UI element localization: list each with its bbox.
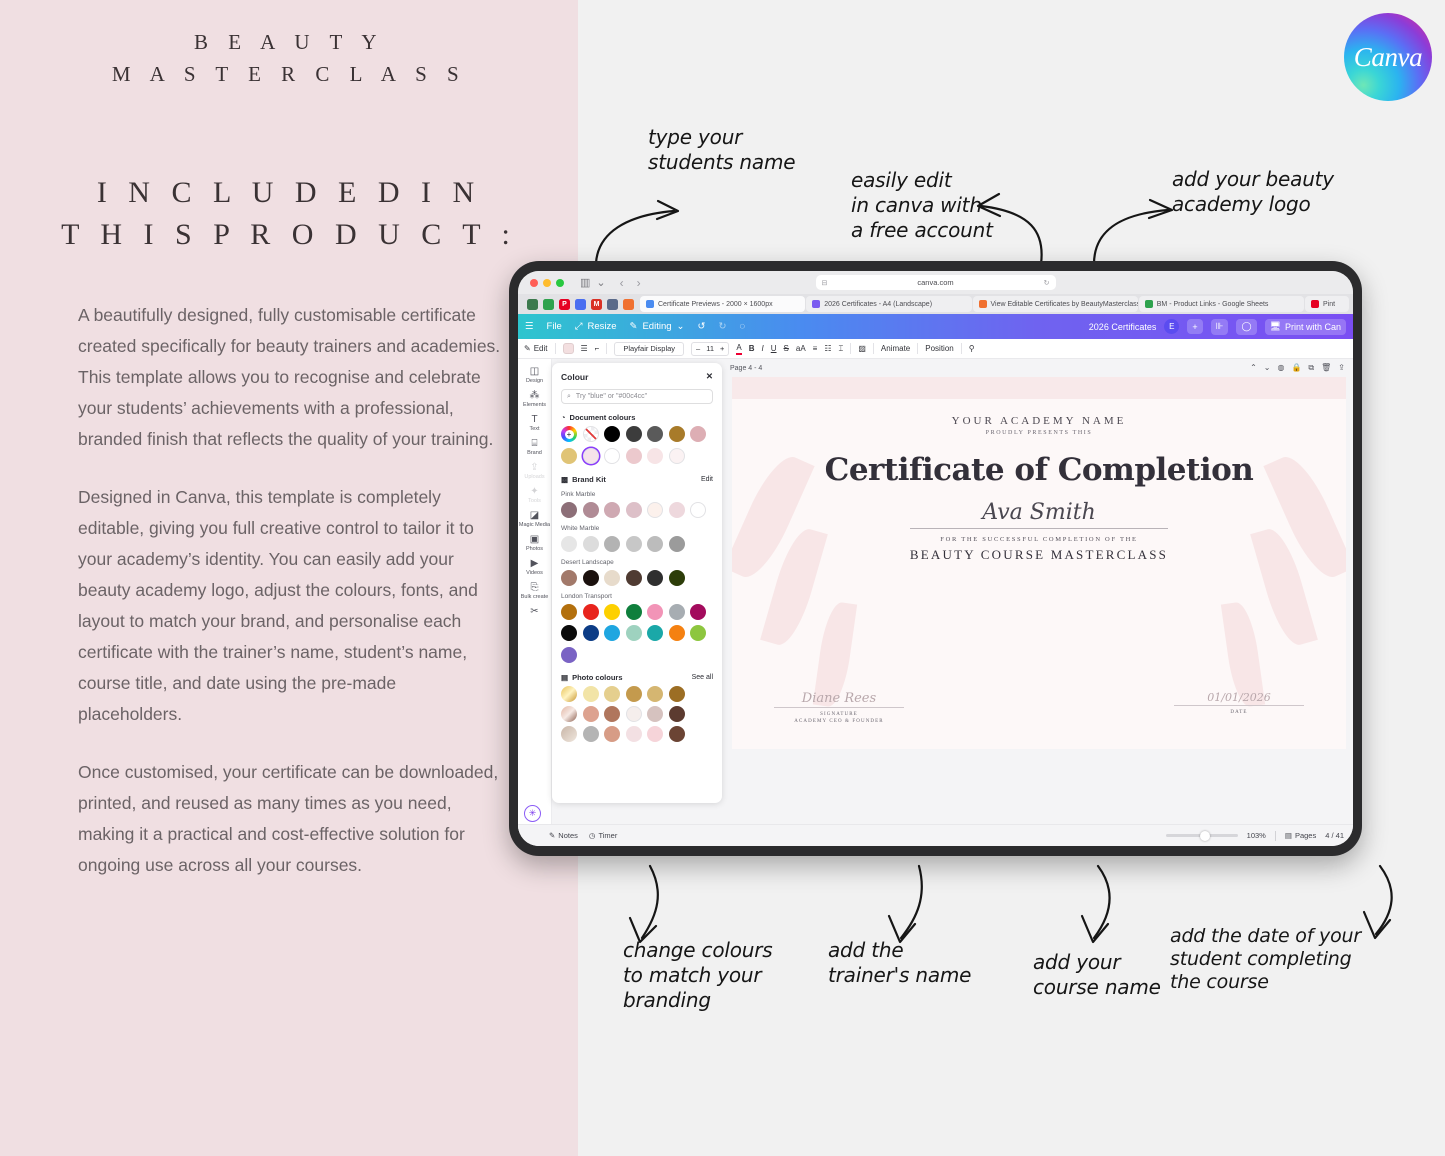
text-icon: T	[531, 415, 537, 425]
chevron-down-icon: ⌄	[677, 321, 685, 332]
resize-label: Resize	[587, 321, 616, 332]
text-align-icon[interactable]: ≡	[813, 344, 818, 353]
bottom-bar-right: 103% ▤ Pages 4 / 41	[1166, 831, 1344, 841]
text-format-toolbar: ✎ Edit ☰ ⌐ Playfair Display – 11 + A B I…	[518, 339, 1353, 359]
shield-icon: ⊟	[822, 279, 828, 287]
annotation-course-name: add your course name	[1033, 950, 1161, 1000]
lock-icon[interactable]: 🔒	[1291, 363, 1301, 373]
annotation-easily-edit: easily edit in canva with a free account	[851, 168, 993, 243]
forward-icon[interactable]: ›	[637, 276, 641, 290]
bold-button[interactable]: B	[749, 344, 755, 353]
description-copy: A beautifully designed, fully customisab…	[78, 300, 502, 881]
signature-caption-1: SIGNATURE	[774, 711, 904, 718]
transparency-icon[interactable]: ▨	[858, 344, 866, 353]
animate-button[interactable]: Animate	[881, 344, 910, 353]
canva-workspace: ◫ Design ⁂ Elements T Text ⌸ Brand	[518, 359, 1353, 846]
bookmark-icon-2[interactable]	[543, 299, 554, 310]
pages-button[interactable]: ▤ Pages	[1285, 831, 1316, 840]
curve-text-icon[interactable]: ⌐	[595, 344, 600, 353]
paragraph-3: Once customised, your certificate can be…	[78, 757, 502, 881]
notes-icon: ✎	[549, 831, 555, 840]
page-title: I N C L U D E D I N T H I S P R O D U C …	[0, 172, 578, 256]
tablet-screen: ▥ ⌄ ‹ › ⊟ canva.com ↻ P	[518, 271, 1353, 846]
edit-button[interactable]: ✎ Edit	[524, 344, 548, 353]
tablet-device-frame: ▥ ⌄ ‹ › ⊟ canva.com ↻ P	[509, 261, 1362, 856]
sidebar-item-videos[interactable]: ▶ Videos	[518, 556, 551, 579]
signature-caption-2: ACADEMY CEO & FOUNDER	[774, 718, 904, 725]
paragraph-2: Designed in Canva, this template is comp…	[78, 482, 502, 730]
sidebar-item-bulk-create[interactable]: ⎘ Bulk create	[518, 580, 551, 603]
print-label: Print with Can	[1285, 322, 1341, 332]
zoom-slider-handle[interactable]	[1200, 831, 1210, 841]
avatar[interactable]: E	[1164, 319, 1179, 334]
move-up-icon[interactable]: ⌃	[1250, 363, 1257, 373]
sidebar-item-text[interactable]: T Text	[518, 412, 551, 435]
canvas-area: Page 4 - 4 ⌃ ⌄ ◍ 🔒 ⧉ 🗑 ⇪	[552, 359, 1353, 846]
pencil-icon: ✎	[630, 321, 638, 332]
right-showcase-panel: Canva type your students name easily edi…	[578, 0, 1445, 1156]
browser-tab[interactable]: BM - Product Links - Google Sheets	[1139, 296, 1304, 312]
print-with-canva-button[interactable]: 🖥 Print with Can	[1265, 319, 1346, 335]
tools-icon: ✦	[530, 487, 538, 497]
move-down-icon[interactable]: ⌄	[1264, 363, 1271, 373]
videos-icon: ▶	[531, 559, 539, 569]
edit-label: Edit	[534, 344, 548, 353]
canva-top-bar: ☰ File ⤢ Resize ✎ Editing ⌄ ↺ ↻ ◌ 2026 C…	[518, 314, 1353, 339]
document-title[interactable]: 2026 Certificates	[1089, 322, 1157, 332]
sidebar-item-label: Bulk create	[521, 594, 549, 600]
sidebar-item-label: Tools	[528, 498, 541, 504]
paragraph-1: A beautifully designed, fully customisab…	[78, 300, 502, 455]
sidebar-toggle[interactable]: ▥ ⌄	[580, 276, 606, 289]
cloud-save-icon[interactable]: ◌	[739, 321, 745, 332]
annotation-trainers-name: add the trainer's name	[828, 938, 971, 988]
position-button[interactable]: Position	[925, 344, 953, 353]
resize-button[interactable]: ⤢ Resize	[575, 321, 617, 332]
sidebar-item-label: Uploads	[524, 474, 544, 480]
font-colour-icon[interactable]: A	[736, 343, 741, 355]
back-icon[interactable]: ‹	[620, 276, 624, 290]
font-size-value: 11	[706, 344, 714, 353]
left-info-panel: B E A U T Y M A S T E R C L A S S I N C …	[0, 0, 578, 1156]
print-icon: 🖥	[1270, 321, 1281, 332]
notes-button[interactable]: ✎ Notes	[549, 831, 578, 840]
address-bar[interactable]: ⊟ canva.com ↻	[816, 275, 1056, 290]
page-title-line2: T H I S P R O D U C T :	[0, 214, 578, 256]
sidebar-item-label: Design	[526, 378, 543, 384]
file-menu-button[interactable]: File	[547, 321, 562, 332]
resize-icon: ⤢	[575, 321, 583, 332]
minimize-window-button[interactable]	[543, 279, 551, 287]
canva-top-bar-right: 2026 Certificates E + ⊪ ◯ 🖥 Print with C…	[1089, 319, 1346, 335]
add-collaborator-button[interactable]: +	[1187, 319, 1202, 334]
browser-tab[interactable]: Certificate Previews - 2000 × 1600px	[640, 296, 805, 312]
certificate-content: YOUR ACADEMY NAME PROUDLY PRESENTS THIS …	[732, 377, 1346, 563]
editing-mode-dropdown[interactable]: ✎ Editing ⌄	[630, 321, 685, 332]
browser-tab[interactable]: View Editable Certificates by BeautyMast…	[973, 296, 1138, 312]
font-family-select[interactable]: Playfair Display	[614, 342, 684, 356]
delete-icon[interactable]: 🗑	[1321, 363, 1331, 373]
insights-icon[interactable]: ⊪	[1211, 319, 1229, 335]
proudly-presents-text: PROUDLY PRESENTS THIS	[732, 430, 1346, 436]
chevron-down-icon: ⌄	[596, 276, 605, 289]
arrow-to-academy-logo	[1088, 188, 1178, 266]
page-title-line1: I N C L U D E D I N	[0, 172, 578, 214]
bookmark-icon-6[interactable]	[607, 299, 618, 310]
signature-rule	[774, 707, 904, 708]
page-count: 4 / 41	[1325, 831, 1344, 840]
annotation-date: add the date of your student completing …	[1170, 925, 1361, 994]
line-spacing-icon[interactable]: ⌶	[839, 344, 844, 354]
arrow-to-student-name	[588, 185, 698, 265]
font-size-stepper[interactable]: – 11 +	[691, 342, 729, 356]
photos-icon: ▣	[530, 535, 539, 545]
zoom-level: 103%	[1247, 831, 1266, 840]
completion-subtitle: FOR THE SUCCESSFUL COMPLETION OF THE	[732, 536, 1346, 543]
uploads-icon: ⇪	[530, 463, 538, 473]
editing-label: Editing	[642, 321, 671, 332]
certificate-canvas[interactable]: YOUR ACADEMY NAME PROUDLY PRESENTS THIS …	[732, 377, 1346, 749]
window-controls[interactable]	[530, 279, 564, 287]
increase-font-size[interactable]: +	[720, 344, 724, 353]
comment-icon[interactable]: ◯	[1236, 319, 1256, 335]
redo-icon[interactable]: ↻	[718, 321, 726, 332]
annotation-change-colours: change colours to match your branding	[623, 938, 773, 1013]
hamburger-menu-icon[interactable]: ☰	[525, 321, 534, 332]
sidebar-item-elements[interactable]: ⁂ Elements	[518, 388, 551, 411]
student-name-rule	[910, 528, 1168, 529]
academy-name-placeholder[interactable]: YOUR ACADEMY NAME	[732, 415, 1346, 427]
letter-case-button[interactable]: aA	[796, 344, 806, 353]
browser-tab[interactable]: Pint	[1305, 296, 1349, 312]
underline-button[interactable]: U	[771, 344, 777, 353]
page-tools: ⌃ ⌄ ◍ 🔒 ⧉ 🗑 ⇪	[1250, 363, 1345, 373]
browser-tab[interactable]: 2026 Certificates - A4 (Landscape)	[806, 296, 971, 312]
maximize-window-button[interactable]	[556, 279, 564, 287]
bullet-list-icon[interactable]: ☷	[824, 344, 831, 353]
student-name-placeholder[interactable]: Ava Smith	[732, 500, 1346, 525]
certificate-title[interactable]: Certificate of Completion	[732, 452, 1346, 488]
zoom-slider[interactable]	[1166, 834, 1238, 837]
sidebar-item-label: Brand	[527, 450, 542, 456]
brand-title: B E A U T Y M A S T E R C L A S S	[0, 26, 578, 90]
canva-side-rail: ◫ Design ⁂ Elements T Text ⌸ Brand	[518, 359, 552, 846]
italic-button[interactable]: I	[762, 344, 764, 353]
bookmark-icon-gmail[interactable]: M	[591, 299, 602, 310]
help-icon[interactable]: ⚲	[969, 344, 975, 353]
bookmark-icon-4[interactable]	[575, 299, 586, 310]
signature-name[interactable]: Diane Rees	[774, 691, 904, 706]
tab-title: BM - Product Links - Google Sheets	[1157, 301, 1269, 308]
pages-label: Pages	[1295, 831, 1316, 840]
sidebar-item-uploads[interactable]: ⇪ Uploads	[518, 460, 551, 483]
annotation-add-logo: add your beauty academy logo	[1172, 167, 1334, 217]
sidebar-item-label: Photos	[526, 546, 543, 552]
reload-icon[interactable]: ↻	[1044, 279, 1050, 287]
design-icon: ◫	[530, 367, 539, 377]
tab-title: Pint	[1323, 301, 1335, 308]
magic-wand-icon: ✂	[530, 607, 538, 617]
timer-button[interactable]: ◷ Timer	[589, 831, 617, 840]
sidebar-item-label: Text	[529, 426, 539, 432]
bookmark-icon-pinterest[interactable]: P	[559, 299, 570, 310]
sidebar-item-label: Magic Media	[519, 522, 550, 528]
course-name-placeholder[interactable]: BEAUTY COURSE MASTERCLASS	[732, 547, 1346, 563]
browser-chrome: ▥ ⌄ ‹ › ⊟ canva.com ↻	[518, 271, 1353, 294]
canva-logo-text: Canva	[1354, 42, 1423, 73]
tab-title: Certificate Previews - 2000 × 1600px	[658, 301, 773, 308]
sidebar-item-tools[interactable]: ✦ Tools	[518, 484, 551, 507]
bookmarks-bar: P M	[522, 294, 639, 314]
elements-icon: ⁂	[530, 391, 540, 401]
date-caption: DATE	[1174, 709, 1304, 716]
strikethrough-button[interactable]: S	[784, 344, 789, 353]
notes-label: Notes	[558, 831, 578, 840]
brand-title-line1: B E A U T Y	[194, 30, 384, 54]
sidebar-icon: ▥	[580, 276, 590, 289]
edit-icon: ✎	[524, 344, 531, 353]
browser-tab-strip: P M Certificate Previews - 2000 × 1600px…	[518, 294, 1353, 314]
undo-icon[interactable]: ↺	[698, 321, 706, 332]
tab-title: 2026 Certificates - A4 (Landscape)	[824, 301, 932, 308]
address-bar-url: canva.com	[831, 278, 1039, 287]
bulk-create-icon: ⎘	[531, 583, 539, 593]
sidebar-item-brand[interactable]: ⌸ Brand	[518, 436, 551, 459]
tab-title: View Editable Certificates by BeautyMast…	[991, 301, 1138, 308]
arrow-to-course-name	[1068, 862, 1138, 952]
hide-page-icon[interactable]: ◍	[1277, 363, 1284, 373]
browser-navigation[interactable]: ‹ ›	[620, 276, 641, 290]
bookmark-icon-7[interactable]	[623, 299, 634, 310]
magic-media-icon: ◪	[530, 511, 539, 521]
date-value[interactable]: 01/01/2026	[1174, 691, 1304, 704]
pages-icon: ▤	[1285, 831, 1292, 840]
sidebar-item-photos[interactable]: ▣ Photos	[518, 532, 551, 555]
canva-ai-button[interactable]: ✳	[524, 805, 541, 822]
align-icon[interactable]: ☰	[581, 344, 588, 353]
signature-block[interactable]: Diane Rees SIGNATURE ACADEMY CEO & FOUND…	[774, 691, 904, 725]
timer-icon: ◷	[589, 831, 596, 840]
annotation-type-students-name: type your students name	[648, 125, 795, 175]
close-window-button[interactable]	[530, 279, 538, 287]
certificate-footer: Diane Rees SIGNATURE ACADEMY CEO & FOUND…	[732, 691, 1346, 725]
sidebar-item-magic-media[interactable]: ◪ Magic Media	[518, 508, 551, 531]
canva-bottom-bar: ✎ Notes ◷ Timer 103% ▤ Pages 4 / 41	[518, 824, 1353, 846]
page-label: Page 4 - 4	[730, 365, 762, 372]
text-colour-swatch[interactable]	[563, 343, 574, 354]
sidebar-item-more[interactable]: ✂	[518, 604, 551, 620]
date-rule	[1174, 705, 1304, 706]
canva-logo: Canva	[1344, 13, 1432, 101]
decrease-font-size[interactable]: –	[696, 344, 700, 353]
sidebar-item-label: Videos	[526, 570, 543, 576]
brand-title-line2: M A S T E R C L A S S	[0, 58, 578, 90]
expand-icon[interactable]: ⇪	[1338, 363, 1345, 373]
timer-label: Timer	[598, 831, 617, 840]
duplicate-icon[interactable]: ⧉	[1308, 363, 1314, 373]
sidebar-item-design[interactable]: ◫ Design	[518, 364, 551, 387]
sidebar-item-label: Elements	[523, 402, 546, 408]
bookmark-icon-1[interactable]	[527, 299, 538, 310]
date-block[interactable]: 01/01/2026 DATE	[1174, 691, 1304, 725]
brand-icon: ⌸	[532, 439, 538, 449]
